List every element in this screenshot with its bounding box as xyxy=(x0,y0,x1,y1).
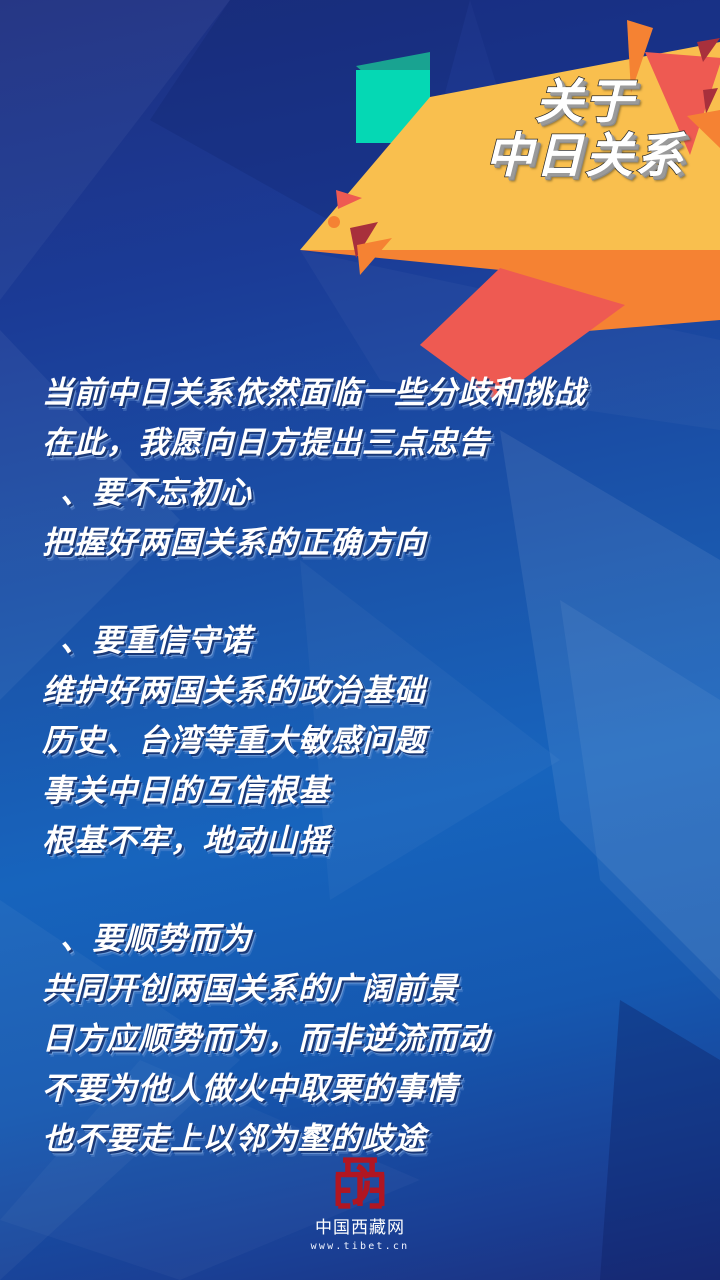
text-line-heading: 、要重信守诺 xyxy=(42,616,682,666)
footer-site-name: 中国西藏网 xyxy=(0,1218,720,1238)
title-line-1: 关于 xyxy=(470,78,700,126)
text-line: 维护好两国关系的政治基础 xyxy=(42,666,682,716)
text-line: 事关中日的互信根基 xyxy=(42,766,682,816)
text-paragraph-advice-three: 、要顺势而为共同开创两国关系的广阔前景日方应顺势而为，而非逆流而动不要为他人做火… xyxy=(42,914,682,1164)
poster-body-text: 当前中日关系依然面临一些分歧和挑战在此，我愿向日方提出三点忠告、要不忘初心把握好… xyxy=(42,368,682,1164)
china-tibet-net-logo-icon xyxy=(329,1154,391,1212)
header-decoration-shapes xyxy=(0,0,720,400)
text-line: 共同开创两国关系的广阔前景 xyxy=(42,964,682,1014)
text-line: 不要为他人做火中取栗的事情 xyxy=(42,1064,682,1114)
text-paragraph-advice-two: 、要重信守诺维护好两国关系的政治基础历史、台湾等重大敏感问题事关中日的互信根基根… xyxy=(42,616,682,866)
poster-footer: 中国西藏网 www.tibet.cn xyxy=(0,1154,720,1252)
text-line: 根基不牢，地动山摇 xyxy=(42,816,682,866)
text-line: 日方应顺势而为，而非逆流而动 xyxy=(42,1014,682,1064)
text-line-heading: 、要顺势而为 xyxy=(42,914,682,964)
text-paragraph-intro: 当前中日关系依然面临一些分歧和挑战在此，我愿向日方提出三点忠告、要不忘初心把握好… xyxy=(42,368,682,568)
text-line: 把握好两国关系的正确方向 xyxy=(42,518,682,568)
title-line-2: 中日关系 xyxy=(470,132,700,180)
footer-site-url: www.tibet.cn xyxy=(0,1241,720,1252)
text-line: 当前中日关系依然面临一些分歧和挑战 xyxy=(42,368,682,418)
poster-root: 关于 中日关系 当前中日关系依然面临一些分歧和挑战在此，我愿向日方提出三点忠告、… xyxy=(0,0,720,1280)
poster-title: 关于 中日关系 xyxy=(470,78,700,180)
text-line: 历史、台湾等重大敏感问题 xyxy=(42,716,682,766)
confetti-dot xyxy=(328,216,340,228)
text-line: 在此，我愿向日方提出三点忠告 xyxy=(42,418,682,468)
text-line-heading: 、要不忘初心 xyxy=(42,468,682,518)
